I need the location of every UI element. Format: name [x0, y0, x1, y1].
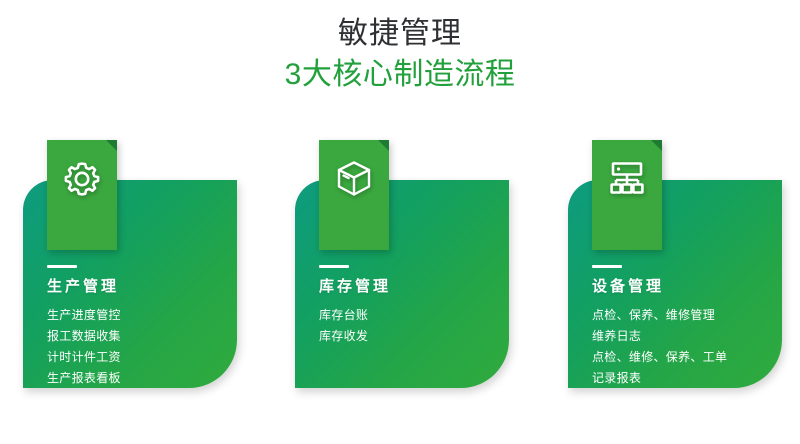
page-header: 敏捷管理 3大核心制造流程: [0, 14, 800, 96]
card-feature-list: 生产进度管控 报工数据收集 计时计件工资 生产报表看板: [47, 305, 227, 389]
icon-badge: [592, 140, 662, 250]
page-title: 敏捷管理: [0, 14, 800, 54]
list-item: 记录报表: [592, 368, 772, 389]
card-text-block: 设备管理 点检、保养、维修管理 维养日志 点检、维修、保养、工单 记录报表: [592, 265, 772, 389]
list-item: 报工数据收集: [47, 326, 227, 347]
feature-card-row: 生产管理 生产进度管控 报工数据收集 计时计件工资 生产报表看板: [23, 180, 778, 390]
list-item: 生产进度管控: [47, 305, 227, 326]
list-item: 库存台账: [319, 305, 499, 326]
icon-badge: [47, 140, 117, 250]
folded-corner: [378, 140, 389, 151]
title-divider: [47, 265, 77, 268]
card-feature-list: 点检、保养、维修管理 维养日志 点检、维修、保养、工单 记录报表: [592, 305, 772, 389]
feature-card[interactable]: 生产管理 生产进度管控 报工数据收集 计时计件工资 生产报表看板: [23, 180, 237, 388]
card-feature-list: 库存台账 库存收发: [319, 305, 499, 347]
list-item: 计时计件工资: [47, 347, 227, 368]
card-title: 生产管理: [47, 277, 227, 297]
folded-corner: [651, 140, 662, 151]
card-text-block: 生产管理 生产进度管控 报工数据收集 计时计件工资 生产报表看板: [47, 265, 227, 389]
icon-badge: [319, 140, 389, 250]
box-icon: [319, 154, 389, 202]
card-title: 库存管理: [319, 277, 499, 297]
card-title: 设备管理: [592, 277, 772, 297]
feature-card-body: 生产管理 生产进度管控 报工数据收集 计时计件工资 生产报表看板: [23, 180, 237, 388]
list-item: 生产报表看板: [47, 368, 227, 389]
gear-icon: [47, 154, 117, 202]
feature-card[interactable]: 设备管理 点检、保养、维修管理 维养日志 点检、维修、保养、工单 记录报表: [568, 180, 782, 388]
page-subtitle: 3大核心制造流程: [0, 54, 800, 96]
title-divider: [319, 265, 349, 268]
folded-corner: [106, 140, 117, 151]
feature-card-body: 库存管理 库存台账 库存收发: [295, 180, 509, 388]
list-item: 点检、维修、保养、工单: [592, 347, 772, 368]
list-item: 维养日志: [592, 326, 772, 347]
org-chart-icon: [592, 154, 662, 202]
list-item: 点检、保养、维修管理: [592, 305, 772, 326]
list-item: 库存收发: [319, 326, 499, 347]
feature-card[interactable]: 库存管理 库存台账 库存收发: [295, 180, 509, 388]
card-text-block: 库存管理 库存台账 库存收发: [319, 265, 499, 347]
title-divider: [592, 265, 622, 268]
feature-card-body: 设备管理 点检、保养、维修管理 维养日志 点检、维修、保养、工单 记录报表: [568, 180, 782, 388]
